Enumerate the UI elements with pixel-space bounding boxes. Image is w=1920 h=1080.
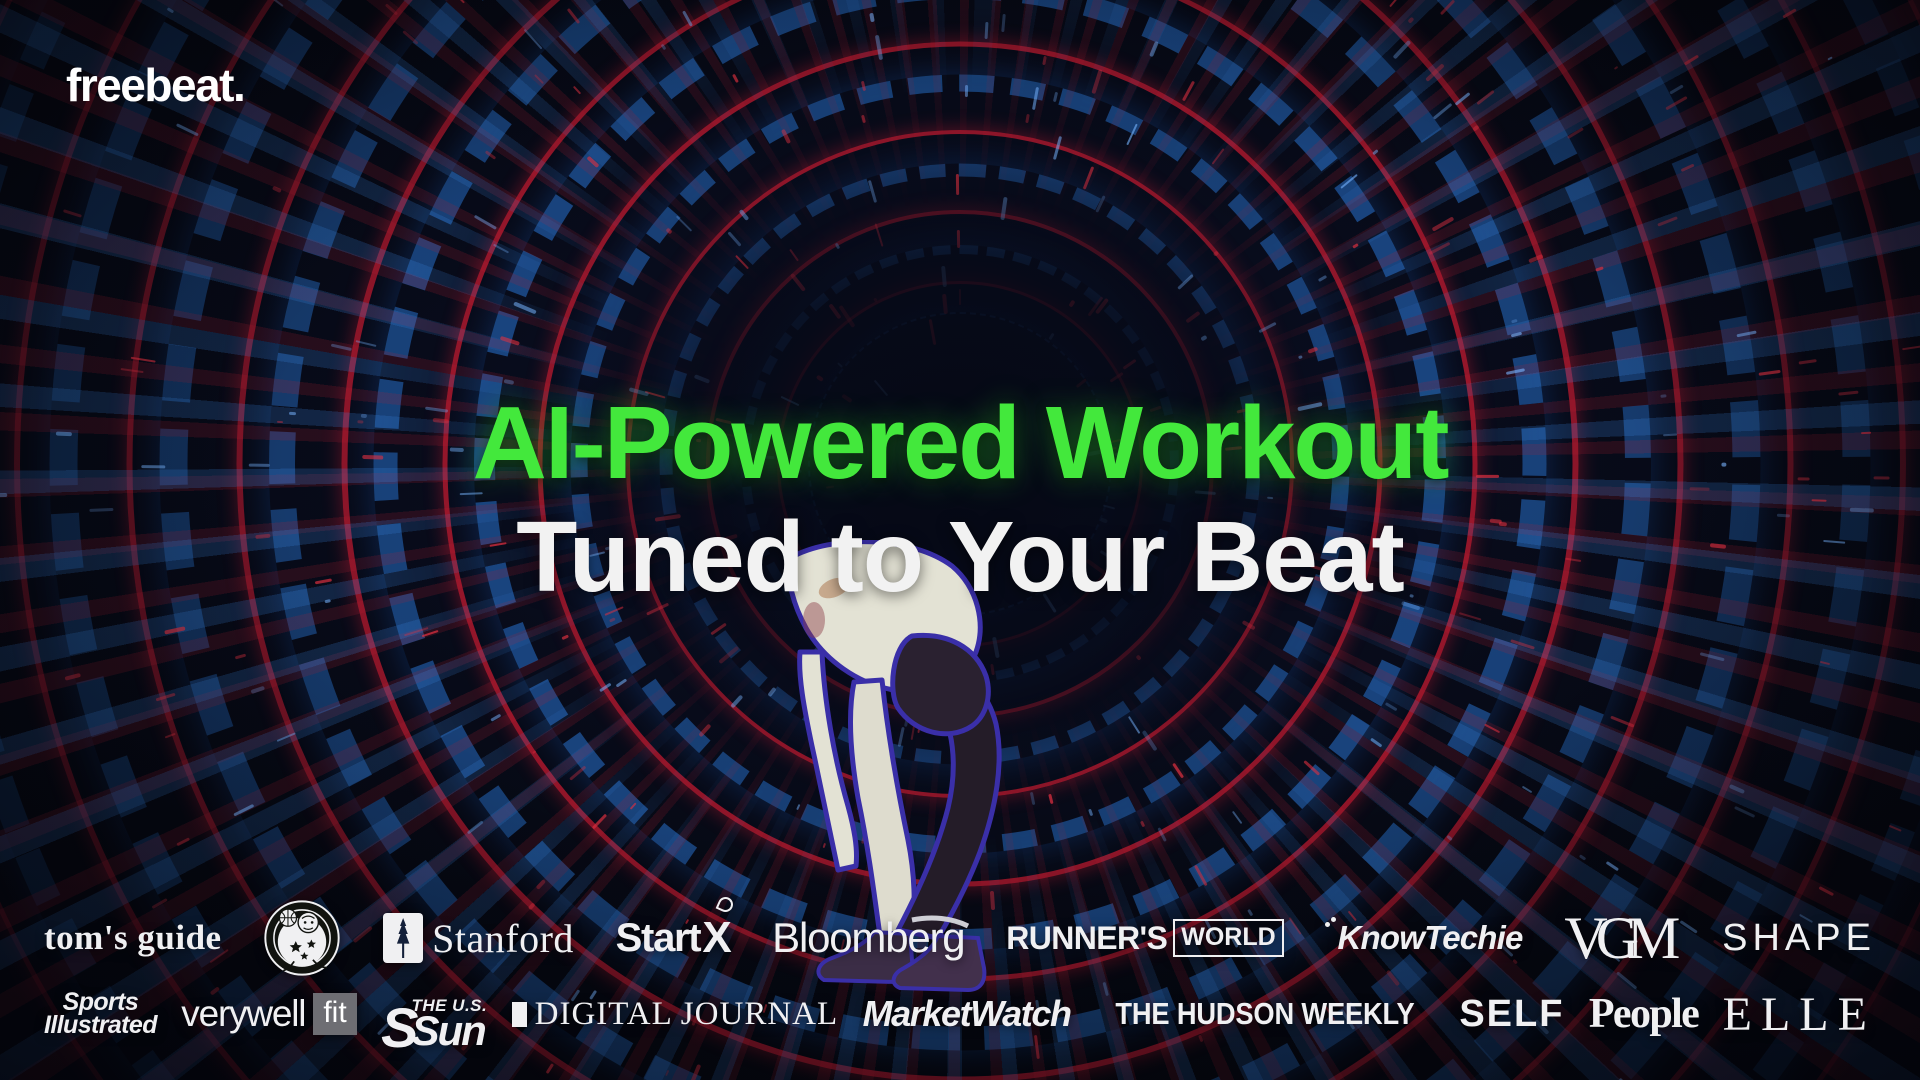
press-logo-vgm[interactable]: VGM bbox=[1564, 900, 1680, 976]
press-logo-shape[interactable]: SHAPE bbox=[1722, 900, 1876, 976]
press-logo-strip: tom's guide bbox=[0, 900, 1920, 1052]
press-row-1: tom's guide bbox=[44, 900, 1876, 976]
press-logo-bloomberg[interactable]: Bloomberg bbox=[772, 900, 964, 976]
press-logo-verywell-fit[interactable]: verywell fit bbox=[181, 976, 356, 1052]
hero-headline: AI-Powered Workout Tuned to Your Beat bbox=[0, 390, 1920, 610]
brand-logo-dot: . bbox=[233, 62, 244, 108]
press-row-2: Sports Illustrated verywell fit S THE U.… bbox=[44, 976, 1876, 1052]
press-logo-the-us-sun[interactable]: S THE U.S. Sun bbox=[381, 976, 487, 1052]
press-logo-elle[interactable]: ELLE bbox=[1723, 976, 1876, 1052]
verywell-fit-badge: fit bbox=[313, 993, 356, 1035]
press-logo-boston-celtics[interactable] bbox=[263, 900, 341, 976]
brand-logo-text: freebeat bbox=[66, 62, 233, 108]
press-logo-runners-world[interactable]: RUNNER'S WORLD bbox=[1006, 900, 1283, 976]
startx-accent: X bbox=[702, 913, 730, 963]
headline-line-1: AI-Powered Workout bbox=[0, 390, 1920, 495]
press-logo-marketwatch[interactable]: MarketWatch bbox=[863, 976, 1071, 1052]
celtics-icon bbox=[263, 899, 341, 977]
press-logo-people[interactable]: People bbox=[1589, 976, 1698, 1052]
runners-world-badge: WORLD bbox=[1173, 919, 1283, 957]
stanford-tree-icon bbox=[383, 913, 423, 963]
brand-logo[interactable]: freebeat. bbox=[66, 62, 244, 108]
hero-banner: freebeat. AI-Powered Workout Tuned to Yo… bbox=[0, 0, 1920, 1080]
press-logo-toms-guide[interactable]: tom's guide bbox=[44, 900, 222, 976]
press-logo-the-hudson-weekly[interactable]: THE HUDSON WEEKLY bbox=[1095, 976, 1435, 1052]
press-logo-self[interactable]: SELF bbox=[1459, 976, 1564, 1052]
press-logo-sports-illustrated[interactable]: Sports Illustrated bbox=[44, 976, 157, 1052]
press-logo-stanford[interactable]: Stanford bbox=[383, 900, 574, 976]
headline-line-2: Tuned to Your Beat bbox=[0, 505, 1920, 610]
digital-journal-mark bbox=[512, 1002, 527, 1027]
press-logo-digital-journal[interactable]: DIGITAL JOURNAL bbox=[512, 976, 839, 1052]
press-logo-knowtechie[interactable]: KnowTechie bbox=[1325, 900, 1522, 976]
press-logo-startx[interactable]: StartX bbox=[616, 900, 731, 976]
